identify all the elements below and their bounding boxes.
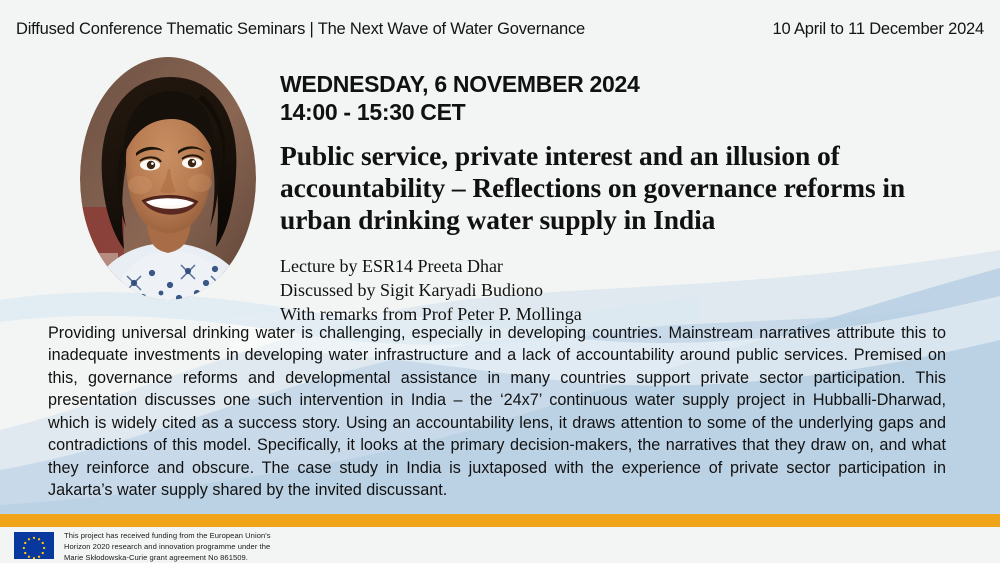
session-details: WEDNESDAY, 6 NOVEMBER 2024 14:00 - 15:30… [280,70,970,327]
funding-line-2: Horizon 2020 research and innovation pro… [64,542,271,553]
orange-divider-bar [0,514,1000,527]
abstract-text: Providing universal drinking water is ch… [48,322,946,502]
talk-title: Public service, private interest and an … [280,140,958,237]
funding-footer: This project has received funding from t… [0,527,1000,563]
funding-line-3: Marie Skłodowska-Curie grant agreement N… [64,553,271,563]
eu-flag-icon [14,532,54,559]
avatar [80,57,256,300]
poster-header: Diffused Conference Thematic Seminars | … [0,14,1000,44]
session-date: WEDNESDAY, 6 NOVEMBER 2024 [280,71,639,97]
speaker-photo [80,57,256,300]
lecture-by: Lecture by ESR14 Preeta Dhar [280,254,970,278]
funding-line-1: This project has received funding from t… [64,531,271,542]
session-time: 14:00 - 15:30 CET [280,98,970,126]
session-datetime: WEDNESDAY, 6 NOVEMBER 2024 14:00 - 15:30… [280,70,970,126]
session-credits: Lecture by ESR14 Preeta Dhar Discussed b… [280,254,970,327]
discussed-by: Discussed by Sigit Karyadi Budiono [280,278,970,302]
conference-title: Diffused Conference Thematic Seminars | … [16,20,585,39]
conference-date-range: 10 April to 11 December 2024 [773,20,984,39]
funding-statement: This project has received funding from t… [64,531,271,563]
seminar-poster: Diffused Conference Thematic Seminars | … [0,0,1000,563]
